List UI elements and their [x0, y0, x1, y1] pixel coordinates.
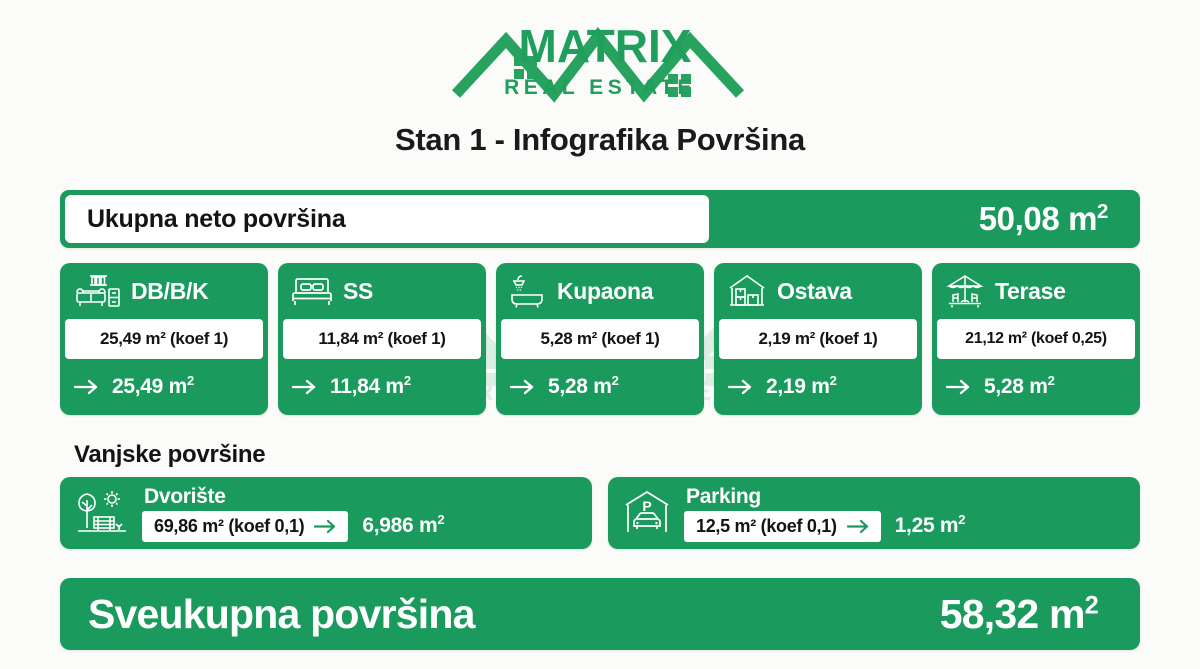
room-result: 5,28 m2 [496, 359, 704, 415]
brand-logo: MATRIX REAL ESTATE [0, 10, 1200, 110]
room-result: 5,28 m2 [932, 359, 1140, 415]
outdoor-name: Dvorište [144, 485, 582, 509]
outdoor-name: Parking [686, 485, 1130, 509]
room-card-ss: SS 11,84 m² (koef 1) 11,84 m2 [278, 263, 486, 415]
net-total-bar: Ukupna neto površina 50,08 m2 [60, 190, 1140, 248]
room-result-unit-exponent: 2 [830, 373, 837, 388]
grand-total-value: 58,32 m2 [475, 591, 1140, 638]
arrow-right-icon [292, 379, 318, 395]
room-result: 25,49 m2 [60, 359, 268, 415]
room-card-header: Terase [932, 263, 1140, 319]
brand-tagline: REAL ESTATE [504, 76, 696, 99]
room-card-kupaona: Kupaona 5,28 m² (koef 1) 5,28 m2 [496, 263, 704, 415]
net-total-unit-exponent: 2 [1097, 200, 1108, 223]
sofa-bookshelf-icon [72, 271, 122, 311]
outdoor-result-number: 1,25 m [895, 514, 959, 537]
outdoor-raw-area: 69,86 m² (koef 0,1) [142, 511, 348, 542]
outdoor-result-unit-exponent: 2 [958, 512, 965, 527]
room-result: 11,84 m2 [278, 359, 486, 415]
room-result-number: 5,28 m [984, 375, 1048, 398]
bathtub-shower-icon [508, 272, 548, 310]
room-card-ostava: Ostava 2,19 m² (koef 1) 2,19 m2 [714, 263, 922, 415]
room-result-value: 11,84 m2 [330, 375, 411, 399]
brand-name: MATRIX [519, 20, 692, 72]
outdoor-result-unit-exponent: 2 [437, 512, 444, 527]
outdoor-card-body: Parking 12,5 m² (koef 0,1) 1,25 m2 [684, 485, 1140, 542]
grand-total-unit-exponent: 2 [1085, 591, 1098, 619]
outdoor-raw-text: 12,5 m² (koef 0,1) [696, 516, 837, 537]
room-raw-area: 25,49 m² (koef 1) [65, 319, 263, 359]
room-card-header: Kupaona [496, 263, 704, 319]
outdoor-result-number: 6,986 m [362, 514, 437, 537]
double-bed-icon [290, 273, 334, 309]
outdoor-card-dvoriste: Dvorište 69,86 m² (koef 0,1) 6,986 m2 [60, 477, 592, 549]
room-name: DB/B/K [131, 278, 208, 305]
outdoor-result: 6,986 m2 [362, 514, 444, 538]
outdoor-result: 1,25 m2 [895, 514, 966, 538]
room-raw-area: 11,84 m² (koef 1) [283, 319, 481, 359]
parking-garage-icon: P [622, 488, 672, 538]
room-result-unit-exponent: 2 [404, 373, 411, 388]
room-result-unit-exponent: 2 [187, 373, 194, 388]
page-title: Stan 1 - Infografika Površina [0, 122, 1200, 158]
matrix-logo-icon: MATRIX REAL ESTATE [450, 14, 750, 106]
grand-total-label: Sveukupna površina [60, 591, 475, 638]
infographic-page: REAL ESTATE MATRIX REAL ESTATE Stan 1 - … [0, 0, 1200, 669]
outdoor-section-title: Vanjske površine [74, 441, 265, 469]
room-result-value: 25,49 m2 [112, 375, 194, 399]
storage-boxes-icon [726, 272, 768, 310]
room-result-value: 5,28 m2 [548, 375, 619, 399]
room-result-number: 5,28 m [548, 375, 612, 398]
room-raw-area: 2,19 m² (koef 1) [719, 319, 917, 359]
room-name: SS [343, 278, 373, 305]
tree-bench-sun-icon [74, 488, 130, 538]
net-total-number: 50,08 m [979, 200, 1097, 237]
room-result-unit-exponent: 2 [612, 373, 619, 388]
room-raw-area: 5,28 m² (koef 1) [501, 319, 699, 359]
outdoor-card-parking: P Parking 12,5 m² (koef 0,1) [608, 477, 1140, 549]
room-name: Terase [995, 278, 1066, 305]
rooms-row: DB/B/K 25,49 m² (koef 1) 25,49 m2 [60, 263, 1140, 415]
room-card-header: Ostava [714, 263, 922, 319]
arrow-right-icon [74, 379, 100, 395]
room-name: Ostava [777, 278, 852, 305]
arrow-right-icon [314, 519, 338, 534]
room-card-terase: Terase 21,12 m² (koef 0,25) 5,28 m2 [932, 263, 1140, 415]
net-total-label: Ukupna neto površina [65, 195, 709, 243]
grand-total-number: 58,32 m [940, 591, 1085, 637]
room-result-number: 25,49 m [112, 375, 187, 398]
room-result-value: 5,28 m2 [984, 375, 1055, 399]
outdoor-row: Dvorište 69,86 m² (koef 0,1) 6,986 m2 [60, 477, 1140, 549]
room-card-header: SS [278, 263, 486, 319]
arrow-right-icon [946, 379, 972, 395]
parasol-terrace-icon [944, 272, 986, 310]
svg-text:P: P [642, 498, 651, 514]
arrow-right-icon [510, 379, 536, 395]
outdoor-card-body: Dvorište 69,86 m² (koef 0,1) 6,986 m2 [142, 485, 592, 542]
room-raw-area: 21,12 m² (koef 0,25) [937, 319, 1135, 359]
room-result-number: 2,19 m [766, 375, 830, 398]
room-name: Kupaona [557, 278, 653, 305]
room-card-dbbk: DB/B/K 25,49 m² (koef 1) 25,49 m2 [60, 263, 268, 415]
room-result-unit-exponent: 2 [1048, 373, 1055, 388]
room-result-value: 2,19 m2 [766, 375, 837, 399]
arrow-right-icon [847, 519, 871, 534]
arrow-right-icon [728, 379, 754, 395]
room-result-number: 11,84 m [330, 375, 404, 398]
room-card-header: DB/B/K [60, 263, 268, 319]
outdoor-calc: 69,86 m² (koef 0,1) 6,986 m2 [142, 511, 582, 542]
net-total-value: 50,08 m2 [709, 200, 1140, 238]
grand-total-bar: Sveukupna površina 58,32 m2 [60, 578, 1140, 650]
room-result: 2,19 m2 [714, 359, 922, 415]
outdoor-calc: 12,5 m² (koef 0,1) 1,25 m2 [684, 511, 1130, 542]
outdoor-raw-text: 69,86 m² (koef 0,1) [154, 516, 304, 537]
outdoor-raw-area: 12,5 m² (koef 0,1) [684, 511, 881, 542]
